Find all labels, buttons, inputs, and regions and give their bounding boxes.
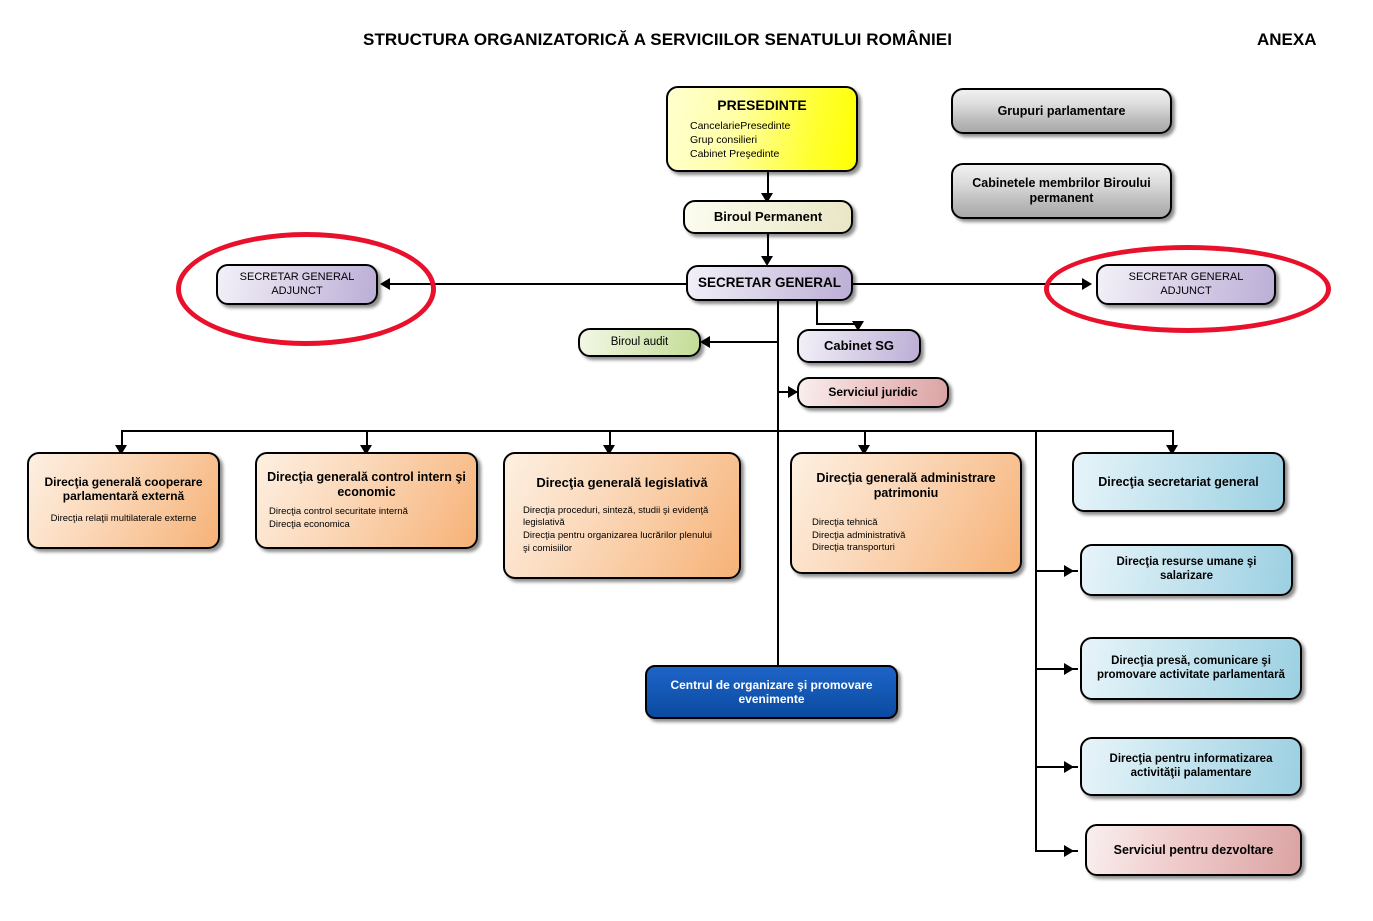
node-president-sub-2: Cabinet Preşedinte — [690, 147, 790, 161]
connector-main-trunk — [777, 299, 779, 665]
node-president-sub-0: CancelariePresedinte — [690, 119, 790, 133]
node-dg-control-sub-0: Direcţia control securitate internă — [269, 506, 408, 519]
node-cabinet-sg-title: Cabinet SG — [824, 338, 894, 354]
annex-label: ANEXA — [1257, 30, 1317, 50]
node-human-resources[interactable]: Direcţia resurse umane şi salarizare — [1080, 544, 1293, 596]
node-parliamentary-groups[interactable]: Grupuri parlamentare — [951, 88, 1172, 134]
node-permanent-bureau[interactable]: Biroul Permanent — [683, 200, 853, 234]
node-it-title: Direcţia pentru informatizarea activităţ… — [1092, 753, 1290, 781]
arrow-riser-to-hr — [1064, 565, 1074, 577]
node-dg-control-sub-1: Direcţia economica — [269, 519, 408, 532]
node-legal-service[interactable]: Serviciul juridic — [797, 377, 949, 408]
node-cabinet-sg[interactable]: Cabinet SG — [797, 329, 921, 363]
node-deputy-secretary-general-right[interactable]: SECRETAR GENERAL ADJUNCT — [1096, 264, 1276, 305]
node-dg-patrimony-subs: Direcţia tehnică Direcţia administrativă… — [800, 517, 905, 555]
node-dg-patrimony-sub-0: Direcţia tehnică — [812, 517, 905, 530]
node-dg-patrimony-sub-1: Direcţia administrativă — [812, 530, 905, 543]
node-secretariat-general[interactable]: Direcţia secretariat general — [1072, 452, 1285, 512]
connector-sg-to-right-deputy — [853, 283, 1084, 285]
arrow-sg-to-right-deputy — [1082, 278, 1092, 290]
node-dg-external-title: Direcţia generală cooperare parlamentară… — [35, 475, 212, 504]
node-president[interactable]: PRESEDINTE CancelariePresedinte Grup con… — [666, 86, 858, 172]
node-president-sub-1: Grup consilieri — [690, 133, 790, 147]
node-events-center-title: Centrul de organizare şi promovare eveni… — [661, 678, 882, 707]
node-dg-internal-control[interactable]: Direcţia generală control intern şi econ… — [255, 452, 478, 549]
arrow-riser-to-development — [1064, 845, 1074, 857]
node-legal-service-title: Serviciul juridic — [828, 385, 917, 399]
arrow-riser-to-press — [1064, 663, 1074, 675]
node-dg-control-title: Direcţia generală control intern şi econ… — [263, 470, 470, 500]
node-dg-external-sub-0: Direcţia relaţii multilaterale externe — [51, 513, 197, 526]
node-deputy-sg-right-title: SECRETAR GENERAL ADJUNCT — [1104, 271, 1268, 297]
node-dg-control-subs: Direcţia control securitate internă Dire… — [263, 506, 408, 532]
node-dg-legislative[interactable]: Direcţia generală legislativă Direcţia p… — [503, 452, 741, 579]
node-bureau-member-cabinets[interactable]: Cabinetele membrilor Biroului permanent — [951, 163, 1172, 219]
node-dg-external-subs: Direcţia relaţii multilaterale externe — [51, 513, 197, 526]
connector-sg-to-cabinet — [816, 299, 818, 325]
node-dg-legislative-sub-0: Direcţia proceduri, sinteză, studii şi e… — [523, 505, 718, 531]
node-bureau-member-cabinets-title: Cabinetele membrilor Biroului permanent — [965, 176, 1158, 206]
node-secretary-general-title: SECRETAR GENERAL — [698, 275, 841, 291]
arrow-trunk-to-audit — [700, 336, 710, 348]
node-president-subs: CancelariePresedinte Grup consilieri Cab… — [678, 119, 790, 162]
node-development-title: Serviciul pentru dezvoltare — [1114, 843, 1274, 858]
node-dg-external-cooperation[interactable]: Direcţia generală cooperare parlamentară… — [27, 452, 220, 549]
node-press-title: Direcţia presă, comunicare şi promovare … — [1090, 655, 1292, 683]
node-dg-legislative-subs: Direcţia proceduri, sinteză, studii şi e… — [513, 505, 718, 556]
node-press-communication[interactable]: Direcţia presă, comunicare şi promovare … — [1080, 637, 1302, 700]
node-president-title: PRESEDINTE — [717, 97, 806, 114]
node-dg-patrimony[interactable]: Direcţia generală administrare patrimoni… — [790, 452, 1022, 574]
node-audit-bureau[interactable]: Biroul audit — [578, 328, 701, 357]
node-parliamentary-groups-title: Grupuri parlamentare — [998, 104, 1126, 119]
connector-president-to-bureau — [767, 172, 769, 195]
connector-distribution-bus — [121, 430, 1173, 432]
node-development-service[interactable]: Serviciul pentru dezvoltare — [1085, 824, 1302, 876]
node-events-center[interactable]: Centrul de organizare şi promovare eveni… — [645, 665, 898, 719]
node-secretary-general[interactable]: SECRETAR GENERAL — [686, 265, 853, 301]
node-human-resources-title: Direcţia resurse umane şi salarizare — [1092, 556, 1281, 584]
connector-sg-to-left-deputy — [390, 283, 686, 285]
arrow-sg-to-left-deputy — [380, 278, 390, 290]
connector-trunk-to-audit — [710, 341, 779, 343]
node-dg-patrimony-sub-2: Direcţia transporturi — [812, 542, 905, 555]
node-deputy-secretary-general-left[interactable]: SECRETAR GENERAL ADJUNCT — [216, 264, 378, 305]
connector-right-riser — [1035, 430, 1037, 852]
node-deputy-sg-left-title: SECRETAR GENERAL ADJUNCT — [224, 271, 370, 297]
org-chart-canvas: STRUCTURA ORGANIZATORICĂ A SERVICIILOR S… — [0, 0, 1373, 921]
node-dg-patrimony-title: Direcţia generală administrare patrimoni… — [800, 471, 1012, 501]
node-it-directorate[interactable]: Direcţia pentru informatizarea activităţ… — [1080, 737, 1302, 796]
page-title: STRUCTURA ORGANIZATORICĂ A SERVICIILOR S… — [363, 30, 952, 50]
node-audit-bureau-title: Biroul audit — [611, 336, 669, 350]
node-permanent-bureau-title: Biroul Permanent — [714, 209, 822, 225]
node-dg-legislative-sub-1: Direcţia pentru organizarea lucrărilor p… — [523, 530, 718, 556]
connector-bureau-to-sg — [767, 233, 769, 258]
node-secretariat-general-title: Direcţia secretariat general — [1098, 475, 1259, 490]
arrow-riser-to-it — [1064, 761, 1074, 773]
node-dg-legislative-title: Direcţia generală legislativă — [536, 475, 707, 491]
